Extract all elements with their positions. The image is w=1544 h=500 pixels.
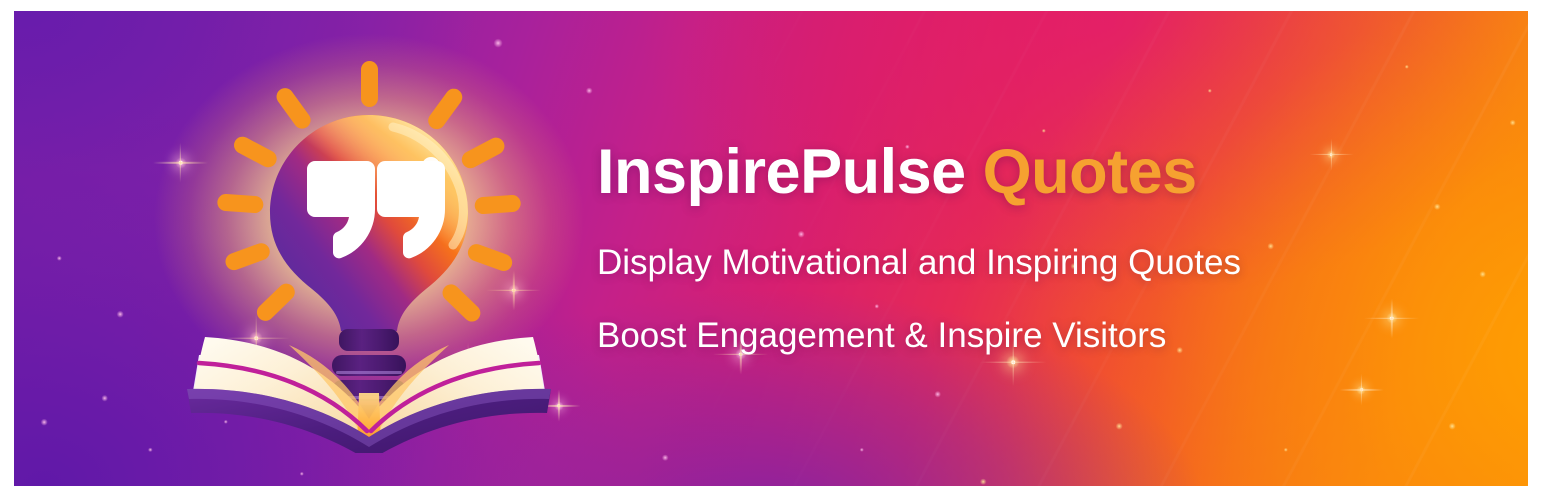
lightbulb-book-illustration bbox=[169, 33, 569, 453]
subtitle-line-1: Display Motivational and Inspiring Quote… bbox=[597, 245, 1497, 280]
subtitle-line-2: Boost Engagement & Inspire Visitors bbox=[597, 318, 1497, 353]
app-logo bbox=[169, 33, 569, 453]
title-accent-text: Quotes bbox=[983, 137, 1197, 207]
open-book-icon bbox=[183, 337, 555, 453]
banner-text-block: InspirePulse Quotes Display Motivational… bbox=[597, 139, 1497, 353]
page-title: InspirePulse Quotes bbox=[597, 139, 1497, 205]
promotional-banner: InspirePulse Quotes Display Motivational… bbox=[14, 11, 1528, 486]
title-main-text: InspirePulse bbox=[597, 137, 966, 207]
